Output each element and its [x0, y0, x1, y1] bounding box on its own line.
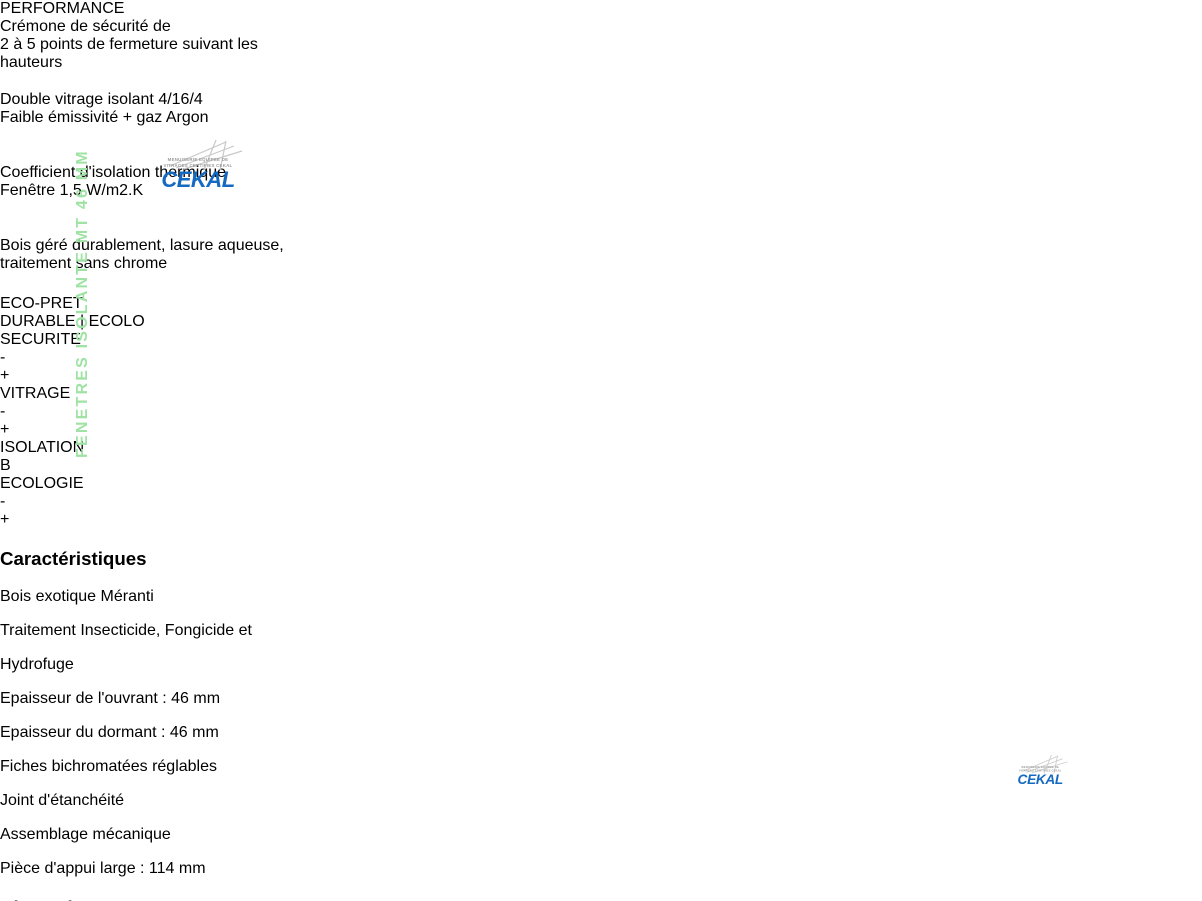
rating-cell[interactable]: -: [0, 493, 1202, 511]
rating-label: VITRAGE: [0, 385, 1202, 403]
dimensions-title: Dimensions: [0, 897, 1202, 901]
datasheet-page: FENETRES ISOLANTE MT 46 MM MENUISERIE EQ…: [0, 0, 1202, 901]
rating-cell[interactable]: +: [0, 511, 1202, 529]
perf-text: traitement sans chrome: [0, 255, 1202, 273]
carac-line: Pièce d'appui large : 114 mm: [0, 860, 1202, 878]
caracteristiques-panel: Caractéristiques Bois exotique Méranti T…: [0, 548, 1202, 879]
rating-cell[interactable]: -: [0, 349, 1202, 367]
rating-scale: B: [0, 457, 1202, 475]
rating-row-securite: SECURITE - +: [0, 331, 1202, 385]
cekal-tagline-1: MENUISERIE EQUIPEE DE: [1008, 766, 1072, 769]
carac-line: Assemblage mécanique: [0, 826, 1202, 844]
perf-text: Double vitrage isolant 4/16/4: [0, 91, 1202, 109]
eco-label-bottom: DURABLE | ECOLO: [0, 313, 1202, 331]
rating-label: SECURITE: [0, 331, 1202, 349]
rating-row-isolation: ISOLATION B: [0, 439, 1202, 475]
rating-cell[interactable]: +: [0, 421, 1202, 439]
rating-row-vitrage: VITRAGE - +: [0, 385, 1202, 439]
rating-cell[interactable]: +: [0, 367, 1202, 385]
rating-scale: - +: [0, 403, 1202, 439]
cekal-tagline-1: MENUISERIE EQUIPEE DE: [146, 157, 250, 162]
rating-label: ISOLATION: [0, 439, 1202, 457]
rating-cell[interactable]: -: [0, 403, 1202, 421]
carac-line: Epaisseur du dormant : 46 mm: [0, 724, 1202, 742]
carac-line: Epaisseur de l'ouvrant : 46 mm: [0, 690, 1202, 708]
carac-line: Hydrofuge: [0, 656, 1202, 674]
caracteristiques-title: Caractéristiques: [0, 548, 1202, 570]
cekal-wordmark: CEKAL: [146, 167, 250, 193]
perf-text: 2 à 5 points de fermeture suivant les: [0, 36, 1202, 54]
performance-title: PERFORMANCE: [0, 0, 1202, 18]
rating-label: ECOLOGIE: [0, 475, 1202, 493]
perf-text: Crémone de sécurité de: [0, 18, 1202, 36]
rating-scale: - +: [0, 493, 1202, 529]
performance-panel: PERFORMANCE Crémone de sécurité de 2 à 5…: [0, 0, 1202, 529]
perf-text: Faible émissivité + gaz Argon: [0, 109, 1202, 127]
carac-line: Traitement Insecticide, Fongicide et: [0, 622, 1202, 640]
cekal-logo-bottom: MENUISERIE EQUIPEE DE VITRAGES CERTIFIES…: [1008, 755, 1076, 785]
perf-text: hauteurs: [0, 54, 1202, 72]
perf-text: Bois géré durablement, lasure aqueuse,: [0, 237, 1202, 255]
carac-line: Bois exotique Méranti: [0, 588, 1202, 606]
carac-line: Joint d'étanchéité: [0, 792, 1202, 810]
rating-cell-selected[interactable]: B: [0, 457, 1202, 475]
rating-row-ecologie: ECOLOGIE - +: [0, 475, 1202, 529]
cekal-logo-top: MENUISERIE EQUIPEE DE VITRAGES CERTIFIES…: [146, 140, 256, 188]
rating-scale: - +: [0, 349, 1202, 385]
vertical-product-title: FENETRES ISOLANTE MT 46 MM: [74, 128, 100, 458]
eco-tree-icon: ECO-PRET DURABLE | ECOLO: [0, 295, 1202, 331]
performance-box-cremone: Crémone de sécurité de 2 à 5 points de f…: [0, 18, 1202, 91]
dimensions-panel: Dimensions Dimensions hors - tout Hauteu…: [0, 897, 1202, 901]
performance-box-ecologie: Bois géré durablement, lasure aqueuse, t…: [0, 237, 1202, 295]
eco-label-top: ECO-PRET: [0, 295, 1202, 313]
cekal-wordmark: CEKAL: [1008, 772, 1072, 788]
